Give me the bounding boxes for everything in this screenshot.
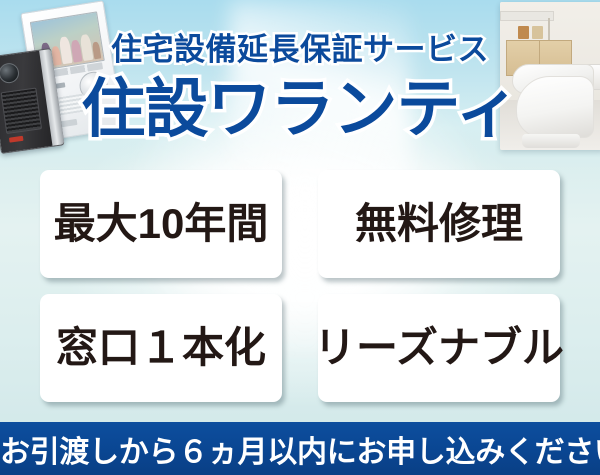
- feature-label: リーズナブル: [314, 327, 564, 369]
- promo-banner: 住宅設備延長保証サービス 住設ワランティ 最大10年間 無料修理 窓口１本化 リ…: [0, 0, 600, 475]
- feature-box-single-contact[interactable]: 窓口１本化: [40, 294, 282, 402]
- feature-box-free-repair[interactable]: 無料修理: [318, 170, 560, 278]
- feature-label: 無料修理: [355, 203, 523, 245]
- bottom-bar-text: お引渡しから６ヵ月以内にお申し込みください: [0, 427, 600, 471]
- bottom-call-to-action-bar[interactable]: お引渡しから６ヵ月以内にお申し込みください: [0, 422, 600, 475]
- feature-box-grid: 最大10年間 無料修理 窓口１本化 リーズナブル: [40, 170, 560, 402]
- feature-label: 最大10年間: [54, 203, 269, 245]
- feature-box-reasonable[interactable]: リーズナブル: [318, 294, 560, 402]
- feature-label: 窓口１本化: [56, 327, 266, 369]
- feature-box-max-years[interactable]: 最大10年間: [40, 170, 282, 278]
- banner-title: 住設ワランティ: [0, 58, 600, 150]
